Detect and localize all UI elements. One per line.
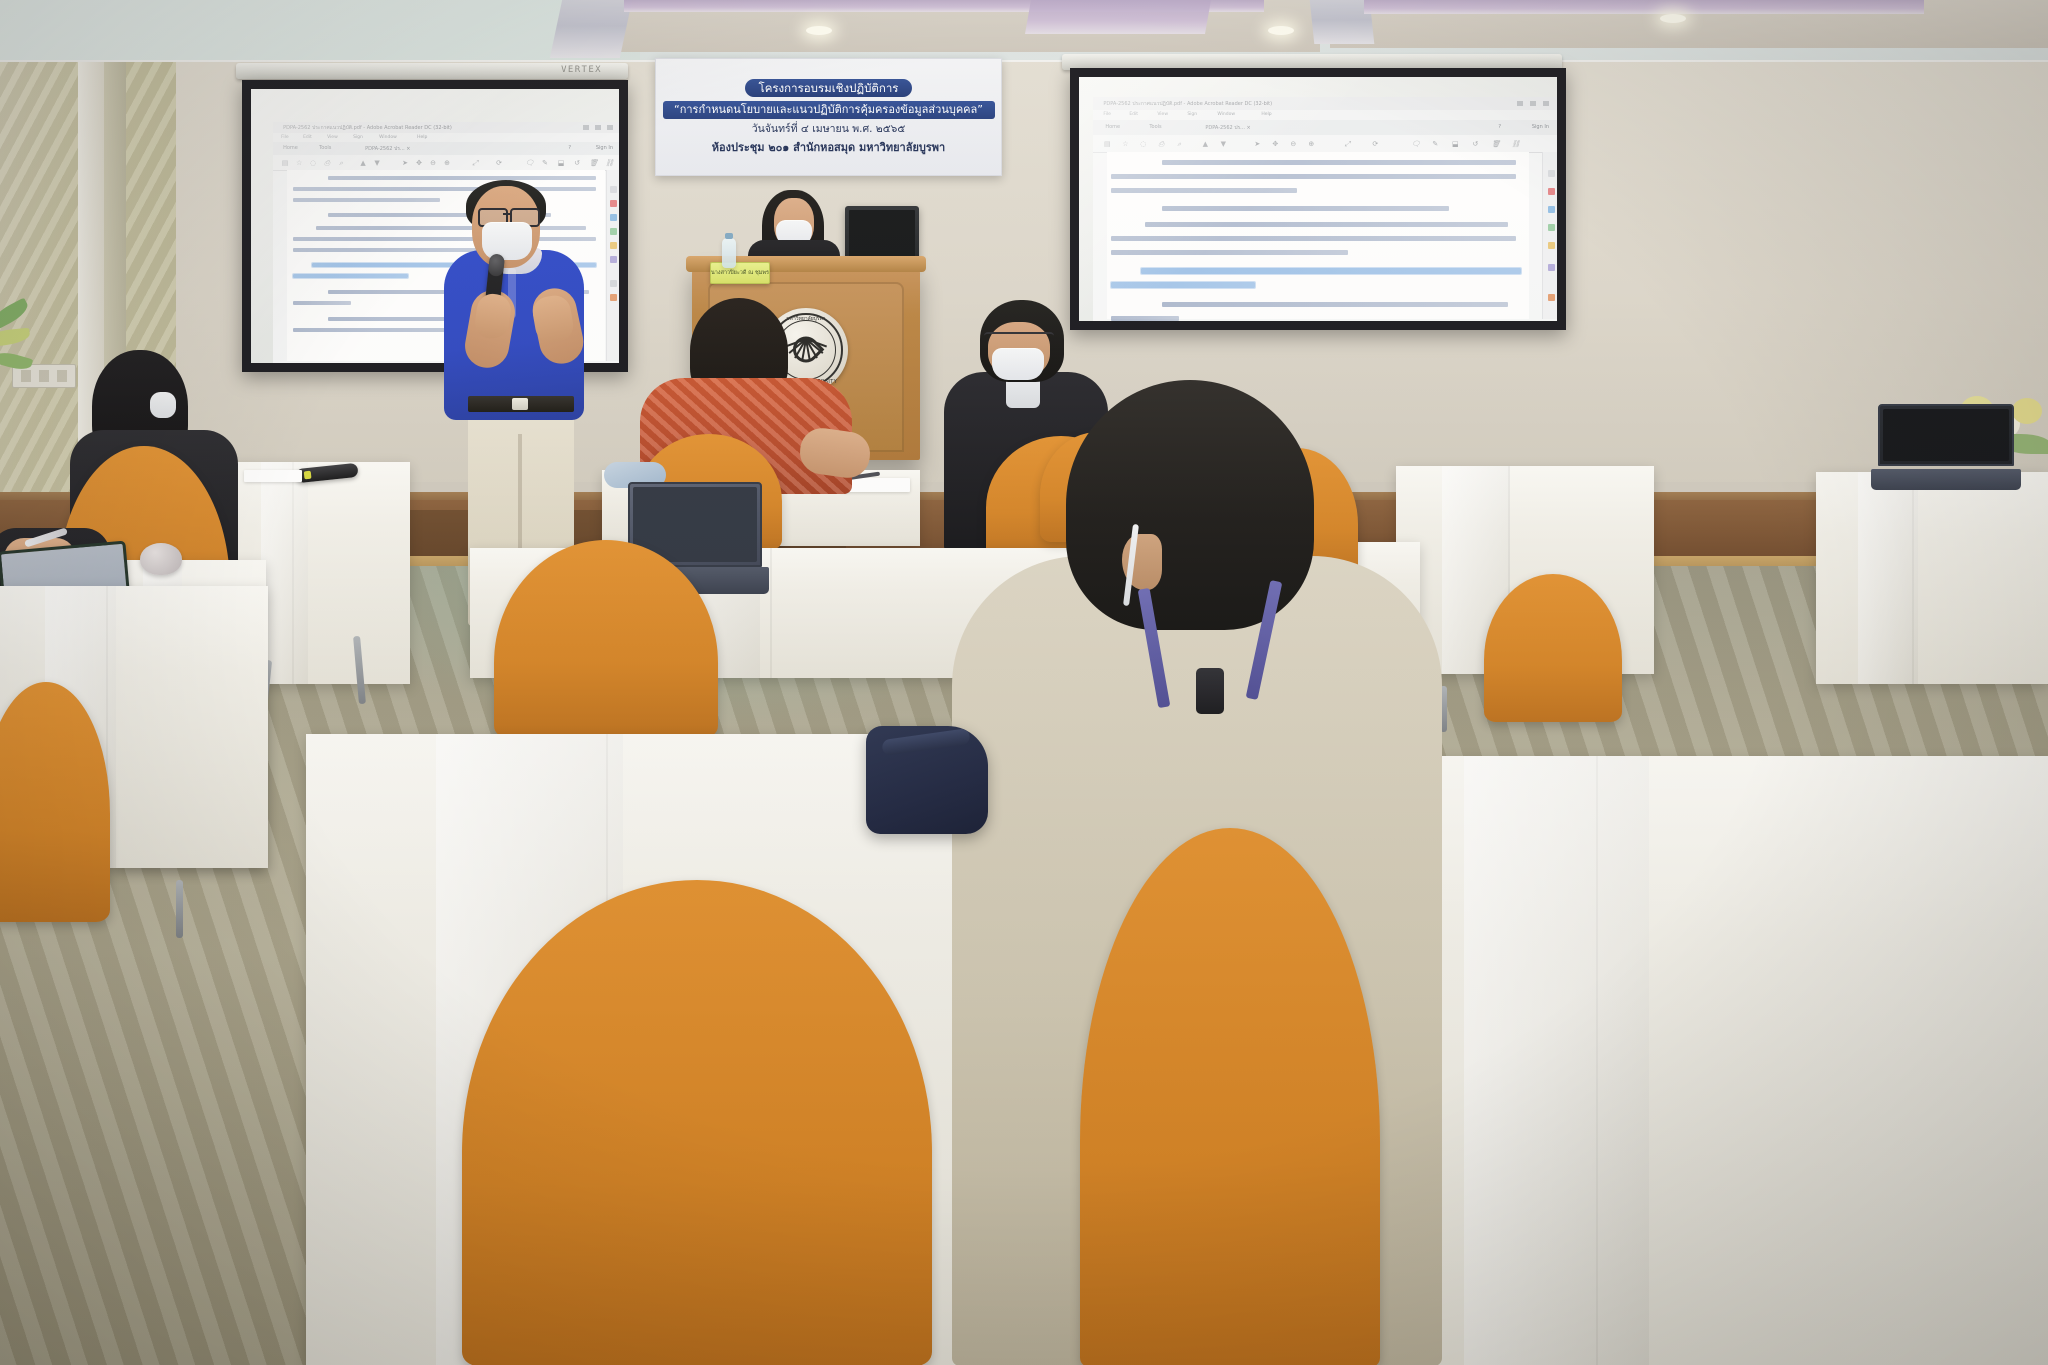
rail-tool-icon[interactable]: [610, 280, 617, 287]
star-icon[interactable]: ☆: [1121, 140, 1129, 148]
fit-page-icon[interactable]: ⤢: [471, 159, 479, 167]
right-screen-surface: PDPA-2562 ประกาศแนวปฏิบัติ.pdf - Adobe A…: [1079, 77, 1557, 321]
zoom-in-icon[interactable]: ⊕: [1307, 140, 1315, 148]
attendee-suit-eyeglasses: [984, 332, 1054, 348]
left-screen-mount: VERTEX: [236, 63, 628, 79]
banner-line-4: ห้องประชุม ๒๐๑ สำนักหอสมุด มหาวิทยาลัยบู…: [712, 141, 945, 155]
pdf-right-rail[interactable]: [606, 170, 619, 361]
window-close-icon[interactable]: [1543, 101, 1549, 106]
stamp-icon[interactable]: ⬓: [557, 159, 565, 167]
delete-icon[interactable]: 🗑: [1491, 140, 1499, 148]
downlight-3: [1660, 14, 1686, 23]
desk-object-puck: [140, 543, 182, 575]
star-icon[interactable]: ☆: [295, 159, 303, 167]
attendee-left-face-mask: [150, 392, 176, 418]
tab-document[interactable]: PDPA-2562 ปร... ×: [1205, 124, 1250, 132]
flower-petal: [2012, 398, 2042, 424]
bag-strap: [881, 728, 970, 756]
banner-line-2: “การกำหนดนโยบายและแนวปฏิบัติการคุ้มครองข…: [663, 101, 995, 119]
pdf-highlighted-line: [1111, 282, 1254, 288]
info-icon[interactable]: ◌: [309, 159, 317, 167]
save-icon[interactable]: ▤: [1103, 140, 1111, 148]
window-minimize-icon[interactable]: [583, 125, 589, 130]
document-bag[interactable]: [866, 726, 988, 834]
sign-in-button[interactable]: Sign In: [596, 145, 613, 151]
pdf-text-line: [1111, 174, 1516, 179]
monitor-screen: [849, 210, 915, 260]
tablecloth-fold: [1912, 472, 1914, 684]
search-icon[interactable]: ⌕: [337, 159, 345, 167]
rotate-icon[interactable]: ⟳: [495, 159, 503, 167]
right-screen-pdf-app: PDPA-2562 ประกาศแนวปฏิบัติ.pdf - Adobe A…: [1093, 97, 1557, 321]
rail-tool-icon[interactable]: [1548, 264, 1555, 271]
sign-in-button[interactable]: Sign In: [1532, 124, 1549, 130]
pdf-text-line: [293, 198, 439, 202]
menu-window[interactable]: Window: [1217, 112, 1235, 117]
delete-icon[interactable]: 🗑: [589, 159, 597, 167]
banner-line-1: โครงการอบรมเชิงปฏิบัติการ: [745, 79, 913, 97]
pdf-text-line: [1162, 302, 1508, 307]
presenter-face-mask: [482, 222, 532, 260]
pdf-text-line: [1111, 250, 1347, 255]
pdf-highlighted-line: [293, 274, 408, 278]
window-close-icon[interactable]: [607, 125, 613, 130]
pdf-text-line: [293, 301, 350, 305]
microphone-grille: [488, 253, 505, 276]
help-button[interactable]: ?: [1498, 124, 1501, 130]
next-page-icon[interactable]: ▼: [1219, 140, 1227, 148]
tab-tools[interactable]: Tools: [1149, 124, 1161, 130]
downlight-1: [806, 26, 832, 35]
bottle-cap: [725, 233, 733, 239]
seminar-room-photo: VERTEX PDPA-2562 ประกาศแนวปฏิบัติ.pdf - …: [0, 0, 2048, 1365]
menu-help[interactable]: Help: [1261, 112, 1271, 117]
menu-view[interactable]: View: [1157, 112, 1168, 117]
pdf-tabbar[interactable]: Home Tools PDPA-2562 ปร... × ? Sign In: [1093, 120, 1557, 136]
rail-tool-icon[interactable]: [610, 200, 617, 207]
eyeglasses-bridge: [503, 213, 512, 215]
pdf-text-line: [1111, 316, 1179, 321]
belt-buckle: [512, 398, 528, 410]
pan-icon[interactable]: ✥: [1271, 140, 1279, 148]
ceiling-cove-b: [1364, 0, 1924, 14]
rail-tool-icon[interactable]: [610, 294, 617, 301]
downlight-2: [1268, 26, 1294, 35]
tab-home[interactable]: Home: [1105, 124, 1120, 130]
tab-home[interactable]: Home: [283, 145, 298, 151]
menu-help[interactable]: Help: [417, 135, 427, 140]
menu-edit[interactable]: Edit: [303, 135, 312, 140]
ceiling-cove-c: [1025, 0, 1211, 34]
pdf-right-rail[interactable]: [1542, 152, 1557, 319]
select-icon[interactable]: ➤: [1253, 140, 1261, 148]
laptop-keyboard-base[interactable]: [1871, 469, 2021, 490]
undo-icon[interactable]: ↺: [1471, 140, 1479, 148]
select-icon[interactable]: ➤: [401, 159, 409, 167]
menu-view[interactable]: View: [327, 135, 338, 140]
pdf-text-line: [1162, 160, 1516, 165]
presenter-belt: [468, 396, 574, 412]
pdf-text-line: [293, 237, 595, 241]
stamp-icon[interactable]: ⬓: [1451, 140, 1459, 148]
pdf-tabbar[interactable]: Home Tools PDPA-2562 ปร... × ? Sign In: [273, 142, 619, 156]
print-icon[interactable]: ⎙: [323, 159, 331, 167]
tab-tools[interactable]: Tools: [319, 145, 331, 151]
tab-document[interactable]: PDPA-2562 ปร... ×: [365, 145, 410, 153]
attendee-suit-face-mask: [992, 348, 1044, 380]
zoom-in-icon[interactable]: ⊕: [443, 159, 451, 167]
event-banner: โครงการอบรมเชิงปฏิบัติการ “การกำหนดนโยบา…: [655, 58, 1002, 176]
undo-icon[interactable]: ↺: [573, 159, 581, 167]
comment-icon[interactable]: 🗨: [1411, 140, 1419, 148]
laptop-lid: [1878, 404, 2014, 466]
ceiling-beam-a: [550, 0, 632, 58]
menu-file[interactable]: File: [1103, 112, 1111, 117]
menu-edit[interactable]: Edit: [1129, 112, 1138, 117]
pdf-text-line: [328, 176, 595, 180]
zoom-out-icon[interactable]: ⊖: [429, 159, 437, 167]
link-icon[interactable]: ⛓: [1511, 140, 1519, 148]
rail-tool-icon[interactable]: [1548, 188, 1555, 195]
menu-sign[interactable]: Sign: [353, 135, 363, 140]
table-foreground-right: [1336, 756, 2048, 1365]
banner-line-3: วันจันทร์ที่ ๔ เมษายน พ.ศ. ๒๕๖๕: [752, 123, 906, 137]
comment-icon[interactable]: 🗨: [525, 159, 533, 167]
rail-tool-icon[interactable]: [1548, 224, 1555, 231]
rail-tool-icon[interactable]: [610, 256, 617, 263]
rotate-icon[interactable]: ⟳: [1371, 140, 1379, 148]
help-button[interactable]: ?: [568, 145, 571, 151]
print-icon[interactable]: ⎙: [1157, 140, 1165, 148]
water-bottle-podium[interactable]: [722, 238, 736, 268]
window-maximize-icon[interactable]: [595, 125, 601, 130]
pdf-toolbar[interactable]: ▤ ☆ ◌ ⎙ ⌕ ▲ ▼ ➤ ✥ ⊖ ⊕ ⤢ ⟳ 🗨 ✎ ⬓ ↺: [273, 155, 619, 171]
pdf-text-line: [1111, 236, 1516, 241]
rail-tool-icon[interactable]: [610, 186, 617, 193]
next-page-icon[interactable]: ▼: [373, 159, 381, 167]
rail-tool-icon[interactable]: [1548, 170, 1555, 177]
rail-tool-icon[interactable]: [1548, 294, 1555, 301]
rail-tool-icon[interactable]: [610, 242, 617, 249]
pdf-title-text: PDPA-2562 ประกาศแนวปฏิบัติ.pdf - Adobe A…: [283, 124, 452, 132]
laptop-screen: [1883, 409, 2009, 461]
pdf-titlebar: PDPA-2562 ประกาศแนวปฏิบัติ.pdf - Adobe A…: [1093, 97, 1557, 111]
prev-page-icon[interactable]: ▲: [1201, 140, 1209, 148]
pan-icon[interactable]: ✥: [415, 159, 423, 167]
highlight-icon[interactable]: ✎: [1431, 140, 1439, 148]
search-icon[interactable]: ⌕: [1175, 140, 1183, 148]
rail-tool-icon[interactable]: [610, 228, 617, 235]
pdf-text-line: [316, 226, 586, 230]
menu-file[interactable]: File: [281, 135, 289, 140]
pdf-title-text: PDPA-2562 ประกาศแนวปฏิบัติ.pdf - Adobe A…: [1103, 100, 1272, 108]
pdf-toolbar[interactable]: ▤ ☆ ◌ ⎙ ⌕ ▲ ▼ ➤ ✥ ⊖ ⊕ ⤢ ⟳ 🗨 ✎ ⬓ ↺: [1093, 135, 1557, 153]
tablecloth-fold: [292, 462, 294, 684]
info-icon[interactable]: ◌: [1139, 140, 1147, 148]
window-maximize-icon[interactable]: [1530, 101, 1536, 106]
pdf-text-line: [1145, 222, 1508, 227]
pdf-highlighted-line: [1141, 268, 1521, 274]
highlight-icon[interactable]: ✎: [541, 159, 549, 167]
tablecloth-fold: [770, 548, 772, 678]
name-sign-text: นางสาวปิยะวดี ณ ชุมพร: [711, 269, 769, 277]
pdf-page: [1107, 152, 1529, 319]
pdf-text-line: [1162, 206, 1449, 211]
pdf-text-line: [293, 248, 478, 252]
rail-tool-icon[interactable]: [610, 214, 617, 221]
fit-page-icon[interactable]: ⤢: [1343, 140, 1351, 148]
right-projection-screen: PDPA-2562 ประกาศแนวปฏิบัติ.pdf - Adobe A…: [1070, 68, 1566, 330]
podium-name-sign: นางสาวปิยะวดี ณ ชุมพร: [710, 262, 770, 284]
projector-screen-brand-label: VERTEX: [561, 65, 602, 75]
rail-tool-icon[interactable]: [1548, 242, 1555, 249]
link-icon[interactable]: ⛓: [605, 159, 613, 167]
microphone-band: [304, 471, 312, 480]
menu-window[interactable]: Window: [379, 135, 397, 140]
pdf-text-line: [1111, 188, 1297, 193]
laptop-right[interactable]: acer: [1878, 404, 2014, 490]
pdf-text-line: [293, 187, 595, 191]
prev-page-icon[interactable]: ▲: [359, 159, 367, 167]
chair-leg: [176, 880, 183, 938]
decorative-plant: [0, 296, 54, 392]
table-far-right: [1816, 472, 2048, 684]
save-icon[interactable]: ▤: [281, 159, 289, 167]
rail-tool-icon[interactable]: [1548, 206, 1555, 213]
zoom-out-icon[interactable]: ⊖: [1289, 140, 1297, 148]
papers-back-left: [244, 470, 302, 482]
tablecloth-fold: [1596, 756, 1598, 1365]
menu-sign[interactable]: Sign: [1187, 112, 1197, 117]
lanyard-badge-clip: [1196, 668, 1224, 714]
window-minimize-icon[interactable]: [1517, 101, 1523, 106]
